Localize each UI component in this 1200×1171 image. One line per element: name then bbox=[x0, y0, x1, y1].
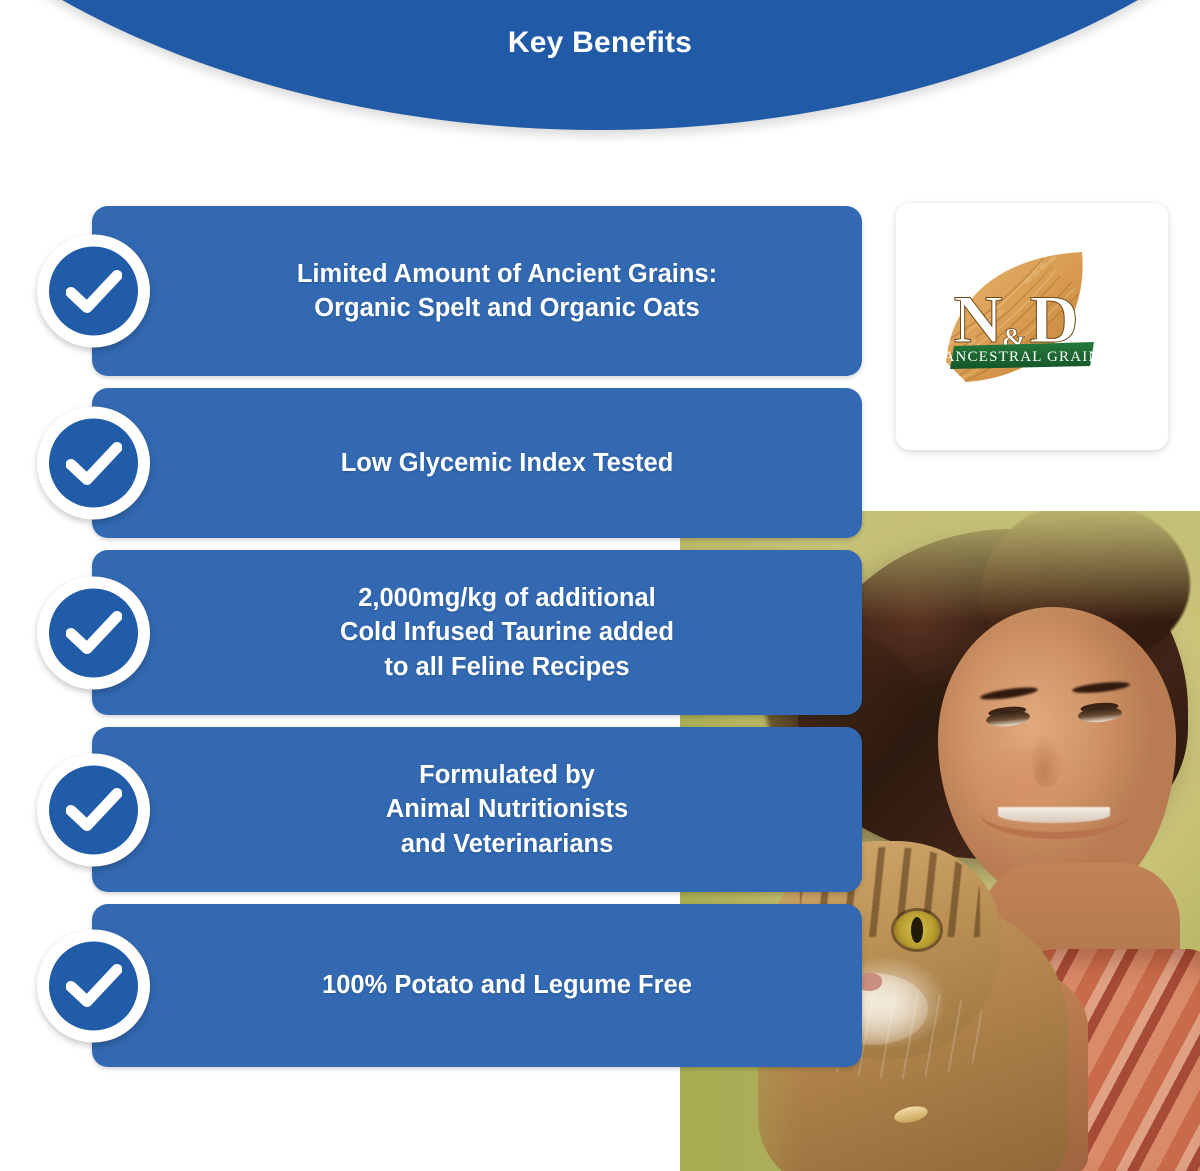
woman-nose bbox=[1032, 733, 1062, 787]
benefit-line-2: Cold Infused Taurine added bbox=[340, 618, 674, 646]
benefit-line-1: Limited Amount of Ancient Grains: bbox=[297, 260, 717, 288]
benefit-item-formulated-by: Formulated by Animal Nutritionists and V… bbox=[92, 727, 862, 892]
benefit-line-1: 100% Potato and Legume Free bbox=[322, 971, 692, 999]
benefit-card[interactable]: Formulated by Animal Nutritionists and V… bbox=[92, 727, 862, 892]
benefit-line-2: Organic Spelt and Organic Oats bbox=[314, 294, 699, 322]
benefit-line-1: Low Glycemic Index Tested bbox=[341, 449, 674, 477]
benefit-line-1: Formulated by bbox=[419, 761, 595, 789]
check-icon-disc bbox=[49, 588, 138, 677]
benefits-list: Limited Amount of Ancient Grains: Organi… bbox=[92, 206, 862, 1079]
woman-teeth bbox=[998, 807, 1110, 823]
benefit-item-taurine: 2,000mg/kg of additional Cold Infused Ta… bbox=[92, 550, 862, 715]
check-icon bbox=[37, 576, 150, 689]
benefit-text: 100% Potato and Legume Free bbox=[322, 968, 692, 1002]
benefit-text: Low Glycemic Index Tested bbox=[341, 446, 674, 480]
benefit-amount: 2,000mg/kg bbox=[358, 584, 497, 612]
logo-tagline: ANCESTRAL GRAIN bbox=[943, 349, 1100, 365]
woman-hand bbox=[848, 1027, 1018, 1167]
benefit-line-1: of additional bbox=[497, 584, 656, 612]
check-icon-disc bbox=[49, 247, 138, 336]
check-icon-disc bbox=[49, 765, 138, 854]
benefit-card[interactable]: Limited Amount of Ancient Grains: Organi… bbox=[92, 206, 862, 376]
benefit-text: 2,000mg/kg of additional Cold Infused Ta… bbox=[340, 581, 674, 683]
benefit-item-glycemic-index: Low Glycemic Index Tested bbox=[92, 388, 862, 538]
check-icon bbox=[37, 753, 150, 866]
benefit-text: Formulated by Animal Nutritionists and V… bbox=[386, 758, 628, 860]
header-banner: Key Benefits bbox=[0, 0, 1200, 170]
check-icon bbox=[37, 407, 150, 520]
nd-ancestral-grain-logo: N & D ANCESTRAL GRAIN bbox=[932, 242, 1132, 412]
cat-pupil-right bbox=[911, 917, 923, 943]
brand-logo-card[interactable]: N & D ANCESTRAL GRAIN bbox=[896, 203, 1168, 450]
benefit-card[interactable]: 100% Potato and Legume Free bbox=[92, 904, 862, 1067]
benefit-card[interactable]: Low Glycemic Index Tested bbox=[92, 388, 862, 538]
check-icon-disc bbox=[49, 419, 138, 508]
benefit-line-3-strong: Veterinarians bbox=[453, 830, 613, 858]
benefit-line-2-strong: Animal Nutritionists bbox=[386, 795, 628, 823]
check-icon bbox=[37, 235, 150, 348]
benefit-card[interactable]: 2,000mg/kg of additional Cold Infused Ta… bbox=[92, 550, 862, 715]
benefit-item-potato-legume-free: 100% Potato and Legume Free bbox=[92, 904, 862, 1067]
page-title: Key Benefits bbox=[0, 26, 1200, 60]
benefit-text: Limited Amount of Ancient Grains: Organi… bbox=[297, 257, 717, 325]
check-icon bbox=[37, 929, 150, 1042]
benefit-line-3-prefix: and bbox=[401, 830, 453, 858]
benefit-line-3: to all Feline Recipes bbox=[384, 653, 629, 681]
benefit-item-ancient-grains: Limited Amount of Ancient Grains: Organi… bbox=[92, 206, 862, 376]
check-icon-disc bbox=[49, 941, 138, 1030]
